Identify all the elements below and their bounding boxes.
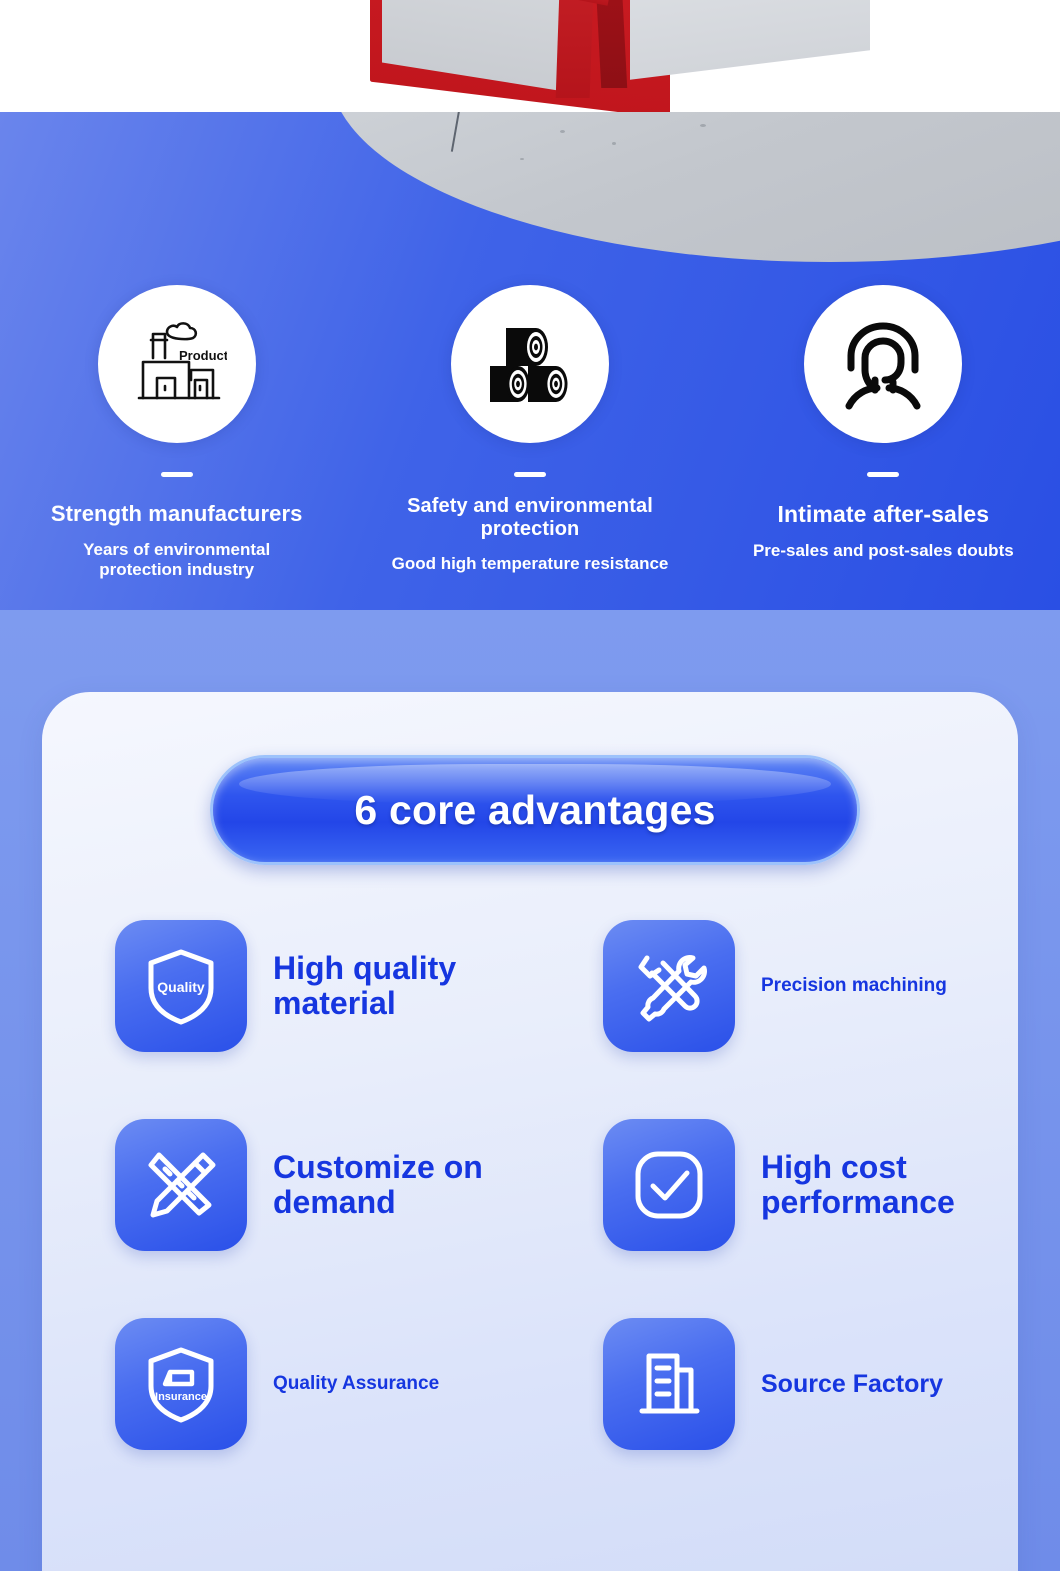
shield-quality-glyph: Quality	[139, 944, 223, 1028]
feature-subtitle: Pre-sales and post-sales doubts	[753, 541, 1014, 561]
advantages-title-pill[interactable]: 6 core advantages	[210, 755, 860, 865]
checkmark-square-icon	[603, 1119, 735, 1251]
building-glyph	[627, 1342, 711, 1426]
tools-glyph	[627, 944, 711, 1028]
checkmark-square-glyph	[627, 1143, 711, 1227]
feature-divider-dash	[867, 472, 899, 477]
shield-insurance-caption: Insurance	[155, 1391, 207, 1403]
steel-coils-icon	[482, 318, 578, 410]
feature-icon-circle	[804, 285, 962, 443]
photo-panel-right	[630, 0, 870, 80]
tools-icon	[603, 920, 735, 1052]
feature-divider-dash	[161, 472, 193, 477]
advantage-item-customize-on-demand[interactable]: Customize on demand	[42, 1119, 530, 1251]
advantages-pill-wrapper: 6 core advantages	[210, 755, 860, 865]
feature-divider-dash	[514, 472, 546, 477]
feature-subtitle: Years of environmental protection indust…	[62, 540, 292, 581]
advantage-item-quality-assurance[interactable]: Insurance Quality Assurance	[42, 1318, 530, 1450]
advantages-card: 6 core advantages Quality High quality m…	[42, 692, 1018, 1571]
shield-quality-icon: Quality	[115, 920, 247, 1052]
feature-icon-circle	[451, 285, 609, 443]
shield-insurance-glyph: Insurance	[139, 1342, 223, 1426]
feature-column-safety-environmental[interactable]: Safety and environmental protection Good…	[353, 112, 706, 610]
advantages-section: 6 core advantages Quality High quality m…	[0, 610, 1060, 1571]
advantage-label: Source Factory	[761, 1371, 943, 1398]
feature-subtitle: Good high temperature resistance	[392, 554, 669, 574]
advantage-label: Customize on demand	[273, 1150, 503, 1219]
pencil-ruler-icon	[115, 1119, 247, 1251]
feature-title: Safety and environmental protection	[405, 495, 655, 541]
blue-feature-band: Product Strength manufacturers Years of …	[0, 112, 1060, 610]
shield-quality-caption: Quality	[157, 979, 205, 995]
advantage-item-source-factory[interactable]: Source Factory	[530, 1318, 1018, 1450]
feature-title: Intimate after-sales	[778, 501, 990, 527]
shield-insurance-icon: Insurance	[115, 1318, 247, 1450]
advantages-grid: Quality High quality material	[42, 920, 1018, 1450]
factory-icon-caption: Product	[179, 348, 227, 363]
advantage-label: High cost performance	[761, 1150, 991, 1219]
feature-column-strength-manufacturers[interactable]: Product Strength manufacturers Years of …	[0, 112, 353, 610]
headset-support-icon	[835, 318, 931, 410]
pencil-ruler-glyph	[139, 1143, 223, 1227]
advantage-item-precision-machining[interactable]: Precision machining	[530, 920, 1018, 1052]
feature-icon-circle: Product	[98, 285, 256, 443]
advantage-item-high-cost-performance[interactable]: High cost performance	[530, 1119, 1018, 1251]
advantages-title-label: 6 core advantages	[354, 787, 715, 834]
feature-columns: Product Strength manufacturers Years of …	[0, 112, 1060, 610]
building-icon	[603, 1318, 735, 1450]
advantage-label: Precision machining	[761, 976, 947, 997]
product-photo-strip	[0, 0, 1060, 112]
advantage-label: Quality Assurance	[273, 1374, 439, 1395]
feature-title: Strength manufacturers	[51, 501, 303, 526]
feature-column-intimate-after-sales[interactable]: Intimate after-sales Pre-sales and post-…	[707, 112, 1060, 610]
advantage-item-high-quality-material[interactable]: Quality High quality material	[42, 920, 530, 1052]
factory-icon: Product	[127, 316, 227, 412]
advantage-label: High quality material	[273, 951, 513, 1020]
